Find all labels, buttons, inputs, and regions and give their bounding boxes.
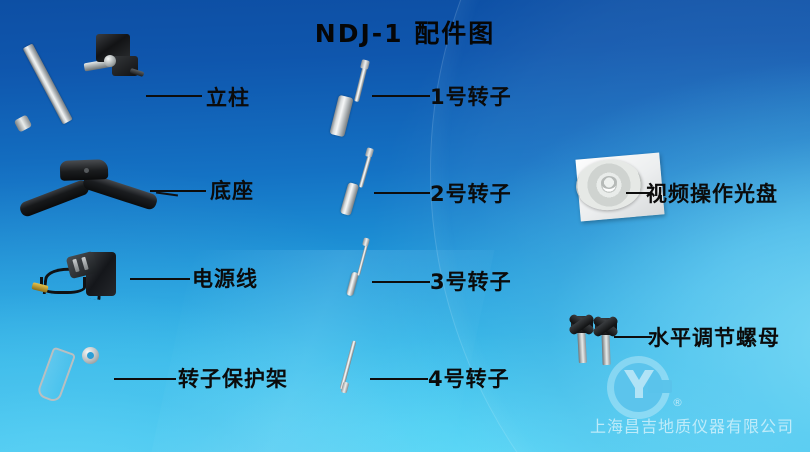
label-base: 底座 <box>210 175 254 205</box>
rotor-1-cylinder <box>329 95 353 137</box>
label-column: 立柱 <box>206 82 250 112</box>
rotor-3-shaft <box>357 244 368 276</box>
accessory-diagram-canvas: NDJ-1 配件图 立柱 底座 电源线 转子保护架 <box>0 0 810 452</box>
background-light-sweep-1 <box>300 0 810 452</box>
rotor-2-shaft <box>359 156 372 188</box>
cy-logo-notch <box>648 380 672 393</box>
base-left-arm <box>18 178 91 218</box>
rotor-1-tip <box>360 59 370 70</box>
column-rod <box>23 43 73 124</box>
label-rotor-2: 2号转子 <box>430 178 512 208</box>
rotor-guard-ring <box>82 347 99 364</box>
leader-line-rotor-1 <box>372 95 430 97</box>
rotor-1-shaft <box>354 68 367 102</box>
label-rotor-guard: 转子保护架 <box>178 363 288 393</box>
leader-line-rotor-guard <box>114 378 176 380</box>
rotor-3-tip <box>362 237 370 246</box>
leader-line-power-cord <box>130 278 190 280</box>
base-screw-dot <box>84 168 89 173</box>
column-foot <box>14 114 32 132</box>
registered-mark-icon: ® <box>672 396 683 409</box>
label-video-cd: 视频操作光盘 <box>646 178 778 208</box>
background-light-sweep-3 <box>0 150 630 452</box>
leader-line-leveling-nut <box>614 336 652 338</box>
base-wire <box>156 191 178 196</box>
rotor-2-tip <box>365 147 374 158</box>
company-name: 上海昌吉地质仪器有限公司 <box>580 413 804 437</box>
label-leveling-nut: 水平调节螺母 <box>648 322 780 352</box>
rotor-2-cylinder <box>340 182 359 216</box>
leader-line-rotor-3 <box>372 281 430 283</box>
rotor-4-tip <box>341 381 350 393</box>
label-rotor-1: 1号转子 <box>430 81 512 111</box>
label-power-cord: 电源线 <box>192 263 258 293</box>
leader-line-rotor-4 <box>370 378 428 380</box>
leader-line-base <box>150 190 206 192</box>
nut-head-2 <box>595 318 617 335</box>
leader-line-rotor-2 <box>374 192 430 194</box>
nut-head-1 <box>571 316 593 333</box>
rotor-guard-wire <box>36 346 76 403</box>
column-knob <box>104 55 116 67</box>
label-rotor-4: 4号转子 <box>428 363 510 393</box>
label-rotor-3: 3号转子 <box>430 266 512 296</box>
leader-line-column <box>146 95 202 97</box>
